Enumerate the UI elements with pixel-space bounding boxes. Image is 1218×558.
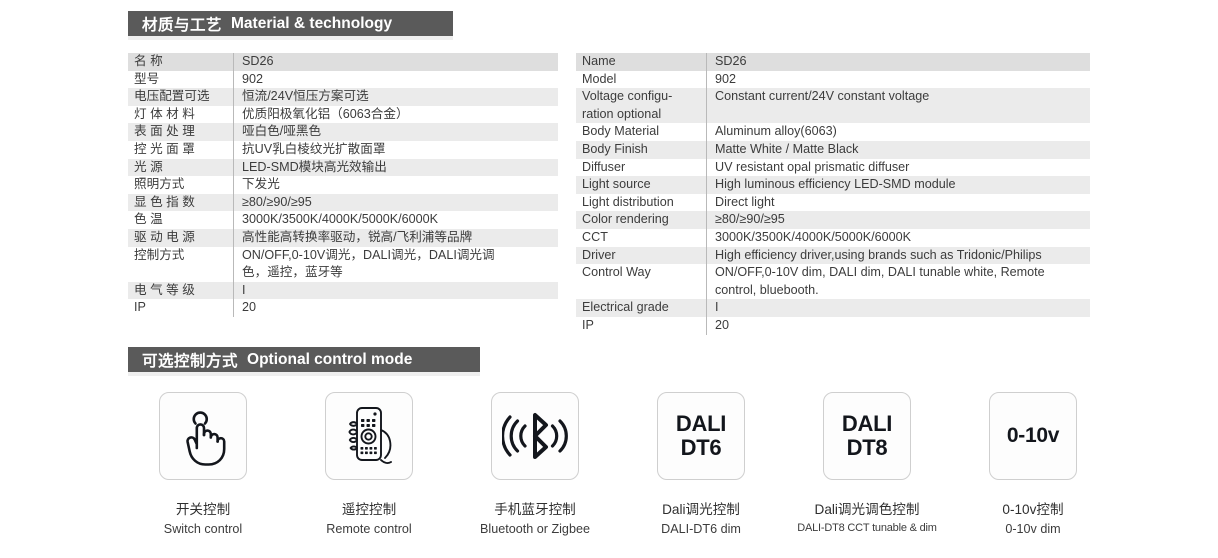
control-mode-item-dali-dt8[interactable]: DALI DT8 Dali调光调色控制 DALI-DT8 CCT tunable… <box>792 392 942 537</box>
table-row: 型号 902 <box>128 71 558 89</box>
spec-key: Light source <box>576 176 706 194</box>
zero-to-ten-volt-text-icon: 0-10v <box>1007 424 1059 448</box>
spec-key: Diffuser <box>576 159 706 177</box>
spec-key: 控制方式 <box>128 247 233 265</box>
table-row: Name SD26 <box>576 53 1090 71</box>
table-row: Control Way ON/OFF,0-10V dim, DALI dim, … <box>576 264 1090 282</box>
dali-dt8-text-icon: DALI DT8 <box>842 412 892 460</box>
table-row: Electrical grade I <box>576 299 1090 317</box>
section-header-control-underline <box>128 372 480 376</box>
control-mode-label-en: Bluetooth or Zigbee <box>480 522 590 536</box>
spec-key: Control Way <box>576 264 706 282</box>
spec-key: 电压配置可选 <box>128 88 233 106</box>
control-mode-card-remote[interactable] <box>325 392 413 480</box>
table-row: 电压配置可选 恒流/24V恒压方案可选 <box>128 88 558 106</box>
spec-key: 控 光 面 罩 <box>128 141 233 159</box>
spec-key: Voltage configu- <box>576 88 706 106</box>
spec-key: ration optional <box>576 106 706 124</box>
spec-key: 驱 动 电 源 <box>128 229 233 247</box>
spec-value: 高性能高转换率驱动，锐高/飞利浦等品牌 <box>233 229 558 247</box>
dali-dt6-text-icon: DALI DT6 <box>676 412 726 460</box>
spec-table-chinese: 名 称 SD26 型号 902 电压配置可选 恒流/24V恒压方案可选 灯 体 … <box>128 53 558 317</box>
table-row: 光 源 LED-SMD模块高光效输出 <box>128 159 558 177</box>
spec-key: 色 温 <box>128 211 233 229</box>
dali-dt8-line2: DT8 <box>842 436 892 460</box>
spec-key: 光 源 <box>128 159 233 177</box>
table-row: Body Material Aluminum alloy(6063) <box>576 123 1090 141</box>
spec-value: 下发光 <box>233 176 558 194</box>
control-mode-label-en: 0-10v dim <box>1005 522 1060 536</box>
section-header-material-title-en: Material & technology <box>231 15 392 33</box>
control-mode-item-switch[interactable]: 开关控制 Switch control <box>128 392 278 537</box>
dali-dt8-line1: DALI <box>842 412 892 436</box>
section-header-material: 材质与工艺 Material & technology <box>128 11 453 36</box>
table-row: Light distribution Direct light <box>576 194 1090 212</box>
table-row: 控制方式 ON/OFF,0-10V调光，DALI调光，DALI调光调 <box>128 247 558 265</box>
control-mode-item-remote[interactable]: 遥控控制 Remote control <box>294 392 444 537</box>
table-row: Color rendering ≥80/≥90/≥95 <box>576 211 1090 229</box>
table-row-continuation: 色，遥控，蓝牙等 <box>128 264 558 282</box>
table-row: 灯 体 材 料 优质阳极氧化铝（6063合金） <box>128 106 558 124</box>
table-row: IP 20 <box>576 317 1090 335</box>
control-mode-label-en: DALI-DT8 CCT tunable & dim <box>797 522 936 534</box>
section-header-control-mode: 可选控制方式 Optional control mode <box>128 347 480 372</box>
table-row: Light source High luminous efficiency LE… <box>576 176 1090 194</box>
spec-value: 抗UV乳白棱纹光扩散面罩 <box>233 141 558 159</box>
spec-value: 902 <box>706 71 1090 89</box>
control-mode-label-en: DALI-DT6 dim <box>661 522 741 536</box>
spec-key <box>128 264 233 282</box>
control-mode-card-0-10v[interactable]: 0-10v <box>989 392 1077 480</box>
control-mode-item-bluetooth[interactable]: 手机蓝牙控制 Bluetooth or Zigbee <box>460 392 610 537</box>
table-row: Body Finish Matte White / Matte Black <box>576 141 1090 159</box>
spec-value: ON/OFF,0-10V dim, DALI dim, DALI tunable… <box>706 264 1090 282</box>
spec-key: 型号 <box>128 71 233 89</box>
table-row: Model 902 <box>576 71 1090 89</box>
control-mode-label-cn: 0-10v控制 <box>1002 498 1063 518</box>
spec-value: UV resistant opal prismatic diffuser <box>706 159 1090 177</box>
spec-value <box>706 106 1090 124</box>
control-mode-label-cn: Dali调光控制 <box>662 498 740 518</box>
spec-key: Electrical grade <box>576 299 706 317</box>
spec-key: 名 称 <box>128 53 233 71</box>
spec-key: Color rendering <box>576 211 706 229</box>
spec-value: Direct light <box>706 194 1090 212</box>
table-row: 名 称 SD26 <box>128 53 558 71</box>
table-row: 驱 动 电 源 高性能高转换率驱动，锐高/飞利浦等品牌 <box>128 229 558 247</box>
spec-value: ≥80/≥90/≥95 <box>706 211 1090 229</box>
spec-value: ON/OFF,0-10V调光，DALI调光，DALI调光调 <box>233 247 558 265</box>
spec-value: control, bluebooth. <box>706 282 1090 300</box>
spec-value: I <box>233 282 558 300</box>
spec-key: IP <box>128 299 233 317</box>
table-row: IP 20 <box>128 299 558 317</box>
spec-value: 优质阳极氧化铝（6063合金） <box>233 106 558 124</box>
spec-key: CCT <box>576 229 706 247</box>
dali-dt6-line2: DT6 <box>676 436 726 460</box>
section-header-control-title-cn: 可选控制方式 <box>142 349 238 371</box>
zero-to-ten-volt-line1: 0-10v <box>1007 424 1059 448</box>
hand-remote-control-icon <box>339 404 399 468</box>
dali-dt6-line1: DALI <box>676 412 726 436</box>
control-mode-label-en: Remote control <box>326 522 411 536</box>
control-mode-label-cn: 开关控制 <box>176 498 230 518</box>
spec-key: 电 气 等 级 <box>128 282 233 300</box>
table-row: Diffuser UV resistant opal prismatic dif… <box>576 159 1090 177</box>
table-row: 照明方式 下发光 <box>128 176 558 194</box>
control-mode-item-dali-dt6[interactable]: DALI DT6 Dali调光控制 DALI-DT6 dim <box>626 392 776 537</box>
spec-value: 902 <box>233 71 558 89</box>
spec-value: LED-SMD模块高光效输出 <box>233 159 558 177</box>
section-header-material-title-cn: 材质与工艺 <box>142 13 222 35</box>
spec-table-english: Name SD26 Model 902 Voltage configu- Con… <box>576 53 1090 335</box>
spec-key: Body Material <box>576 123 706 141</box>
control-mode-list: 开关控制 Switch control <box>128 392 1108 537</box>
touch-hand-icon <box>174 405 232 467</box>
spec-value: 3000K/3500K/4000K/5000K/6000K <box>706 229 1090 247</box>
control-mode-label-cn: 手机蓝牙控制 <box>494 498 576 518</box>
spec-value: Aluminum alloy(6063) <box>706 123 1090 141</box>
spec-key: Body Finish <box>576 141 706 159</box>
spec-value: ≥80/≥90/≥95 <box>233 194 558 212</box>
section-header-control-title-en: Optional control mode <box>247 351 412 369</box>
table-row: Driver High efficiency driver,using bran… <box>576 247 1090 265</box>
spec-value: High efficiency driver,using brands such… <box>706 247 1090 265</box>
control-mode-label-en: Switch control <box>164 522 242 536</box>
table-row: 电 气 等 级 I <box>128 282 558 300</box>
table-row: 控 光 面 罩 抗UV乳白棱纹光扩散面罩 <box>128 141 558 159</box>
spec-value: I <box>706 299 1090 317</box>
spec-key: 显 色 指 数 <box>128 194 233 212</box>
control-mode-label-cn: 遥控控制 <box>342 498 396 518</box>
table-row: 色 温 3000K/3500K/4000K/5000K/6000K <box>128 211 558 229</box>
spec-value: Constant current/24V constant voltage <box>706 88 1090 106</box>
table-row: Voltage configu- Constant current/24V co… <box>576 88 1090 106</box>
spec-value: SD26 <box>706 53 1090 71</box>
spec-value: SD26 <box>233 53 558 71</box>
spec-key: Light distribution <box>576 194 706 212</box>
control-mode-card-bluetooth[interactable] <box>491 392 579 480</box>
spec-key: 照明方式 <box>128 176 233 194</box>
control-mode-card-dali-dt8[interactable]: DALI DT8 <box>823 392 911 480</box>
table-row-continuation: control, bluebooth. <box>576 282 1090 300</box>
spec-key: 灯 体 材 料 <box>128 106 233 124</box>
table-row: 表 面 处 理 哑白色/哑黑色 <box>128 123 558 141</box>
section-header-material-underline <box>128 36 453 40</box>
spec-key: 表 面 处 理 <box>128 123 233 141</box>
spec-key: Name <box>576 53 706 71</box>
spec-key: Driver <box>576 247 706 265</box>
table-row: 显 色 指 数 ≥80/≥90/≥95 <box>128 194 558 212</box>
spec-value: 20 <box>233 299 558 317</box>
spec-key: IP <box>576 317 706 335</box>
spec-key: Model <box>576 71 706 89</box>
spec-value: 3000K/3500K/4000K/5000K/6000K <box>233 211 558 229</box>
spec-value: 哑白色/哑黑色 <box>233 123 558 141</box>
control-mode-item-0-10v[interactable]: 0-10v 0-10v控制 0-10v dim <box>958 392 1108 537</box>
spec-value: High luminous efficiency LED-SMD module <box>706 176 1090 194</box>
control-mode-card-dali-dt6[interactable]: DALI DT6 <box>657 392 745 480</box>
control-mode-label-cn: Dali调光调色控制 <box>815 498 920 518</box>
spec-value: 恒流/24V恒压方案可选 <box>233 88 558 106</box>
table-row-continuation: ration optional <box>576 106 1090 124</box>
table-row: CCT 3000K/3500K/4000K/5000K/6000K <box>576 229 1090 247</box>
spec-value: 色，遥控，蓝牙等 <box>233 264 558 282</box>
spec-value: Matte White / Matte Black <box>706 141 1090 159</box>
control-mode-card-switch[interactable] <box>159 392 247 480</box>
bluetooth-wireless-icon <box>502 410 568 462</box>
spec-key <box>576 282 706 300</box>
spec-value: 20 <box>706 317 1090 335</box>
